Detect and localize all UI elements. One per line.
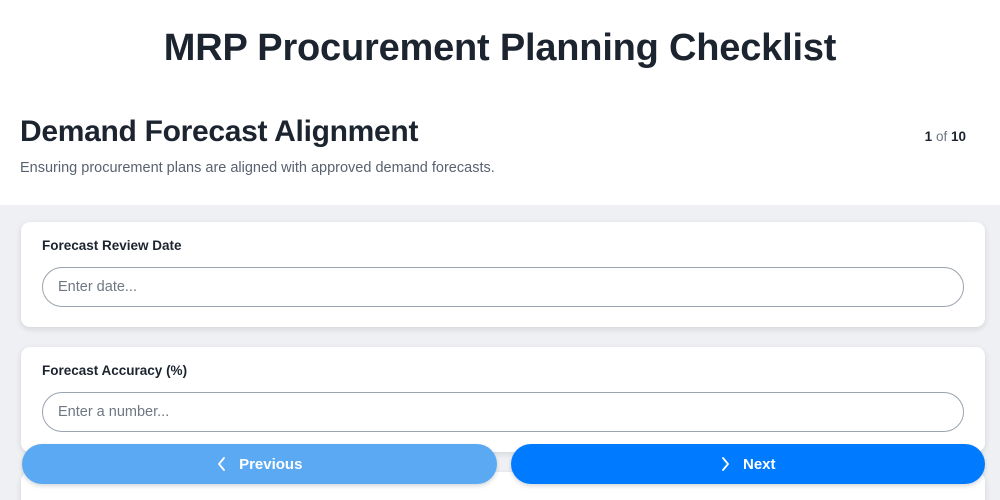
forecast-accuracy-input[interactable] <box>42 392 964 432</box>
page-title: MRP Procurement Planning Checklist <box>164 29 836 67</box>
field-card-forecast-accuracy: Forecast Accuracy (%) <box>21 347 985 452</box>
step-separator: of <box>936 129 947 144</box>
previous-button-label: Previous <box>239 456 302 473</box>
next-button-label: Next <box>743 456 776 473</box>
step-current: 1 <box>925 129 933 144</box>
app-header: MRP Procurement Planning Checklist <box>0 0 1000 96</box>
section-description: Ensuring procurement plans are aligned w… <box>20 159 980 179</box>
chevron-right-icon <box>720 456 731 472</box>
chevron-left-icon <box>216 456 227 472</box>
field-card-forecast-review-date: Forecast Review Date <box>21 222 985 327</box>
section-header: Demand Forecast Alignment 1 of 10 Ensuri… <box>0 96 1000 179</box>
section-title-row: Demand Forecast Alignment 1 of 10 <box>20 114 980 150</box>
field-label: Forecast Review Date <box>42 239 964 254</box>
section-title: Demand Forecast Alignment <box>20 114 418 150</box>
previous-button[interactable]: Previous <box>22 444 497 484</box>
wizard-navigation: Previous Next <box>0 444 1000 484</box>
next-button[interactable]: Next <box>511 444 986 484</box>
step-total: 10 <box>951 129 966 144</box>
step-counter: 1 of 10 <box>925 129 980 144</box>
checklist-page: MRP Procurement Planning Checklist Deman… <box>0 0 1000 500</box>
field-label: Forecast Accuracy (%) <box>42 364 964 379</box>
forecast-review-date-input[interactable] <box>42 267 964 307</box>
